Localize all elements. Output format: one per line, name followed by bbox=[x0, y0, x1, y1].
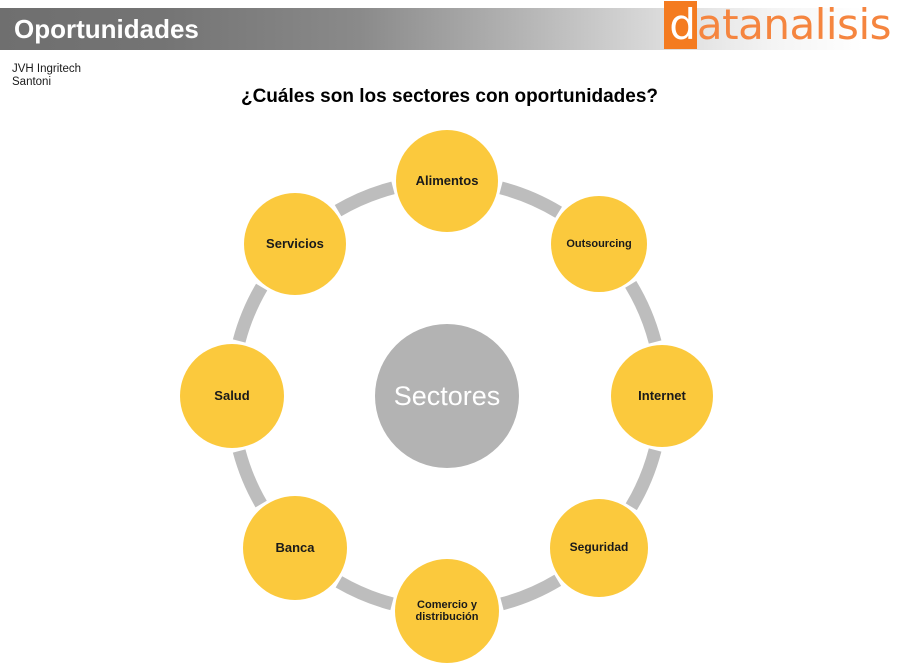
ring-connector-arc bbox=[338, 188, 393, 211]
page-title: Oportunidades bbox=[14, 12, 199, 46]
sector-node-label: Alimentos bbox=[412, 174, 483, 189]
sector-node-outsourcing[interactable]: Outsourcing bbox=[551, 196, 647, 292]
sector-node-label: Outsourcing bbox=[562, 238, 635, 250]
sector-node-label: Banca bbox=[271, 541, 318, 556]
ring-connector-arc bbox=[339, 582, 392, 604]
brand-logo: datanalisis bbox=[664, 1, 891, 49]
sector-node-label: Servicios bbox=[262, 237, 328, 252]
ring-connector-arc bbox=[239, 451, 261, 504]
sector-node-label: Seguridad bbox=[566, 541, 633, 554]
ring-connector-arc bbox=[501, 188, 559, 212]
sector-node-servicios[interactable]: Servicios bbox=[244, 193, 346, 295]
sector-node-banca[interactable]: Banca bbox=[243, 496, 347, 600]
brand-logo-wordmark: atanalisis bbox=[697, 3, 891, 47]
sector-cycle-diagram: Sectores AlimentosOutsourcingInternetSeg… bbox=[0, 120, 899, 667]
sector-node-internet[interactable]: Internet bbox=[611, 345, 713, 447]
ring-connector-arc bbox=[502, 580, 558, 604]
diagram-hub-label: Sectores bbox=[394, 381, 501, 412]
sector-node-label: Internet bbox=[634, 389, 690, 404]
brand-logo-mark: d bbox=[664, 1, 697, 49]
ring-connector-arc bbox=[239, 287, 262, 341]
ring-connector-arc bbox=[631, 284, 655, 342]
sector-node-comercio-y-distribucion[interactable]: Comercio ydistribución bbox=[395, 559, 499, 663]
sector-node-seguridad[interactable]: Seguridad bbox=[550, 499, 648, 597]
diagram-hub-sectores[interactable]: Sectores bbox=[375, 324, 519, 468]
sector-node-label: Comercio ydistribución bbox=[412, 599, 483, 624]
ring-connector-arc bbox=[631, 450, 655, 507]
sector-node-alimentos[interactable]: Alimentos bbox=[396, 130, 498, 232]
question-heading: ¿Cuáles son los sectores con oportunidad… bbox=[0, 86, 899, 108]
sector-node-salud[interactable]: Salud bbox=[180, 344, 284, 448]
client-caption-line-1: JVH Ingritech bbox=[12, 63, 81, 76]
sector-node-label: Salud bbox=[210, 389, 253, 404]
